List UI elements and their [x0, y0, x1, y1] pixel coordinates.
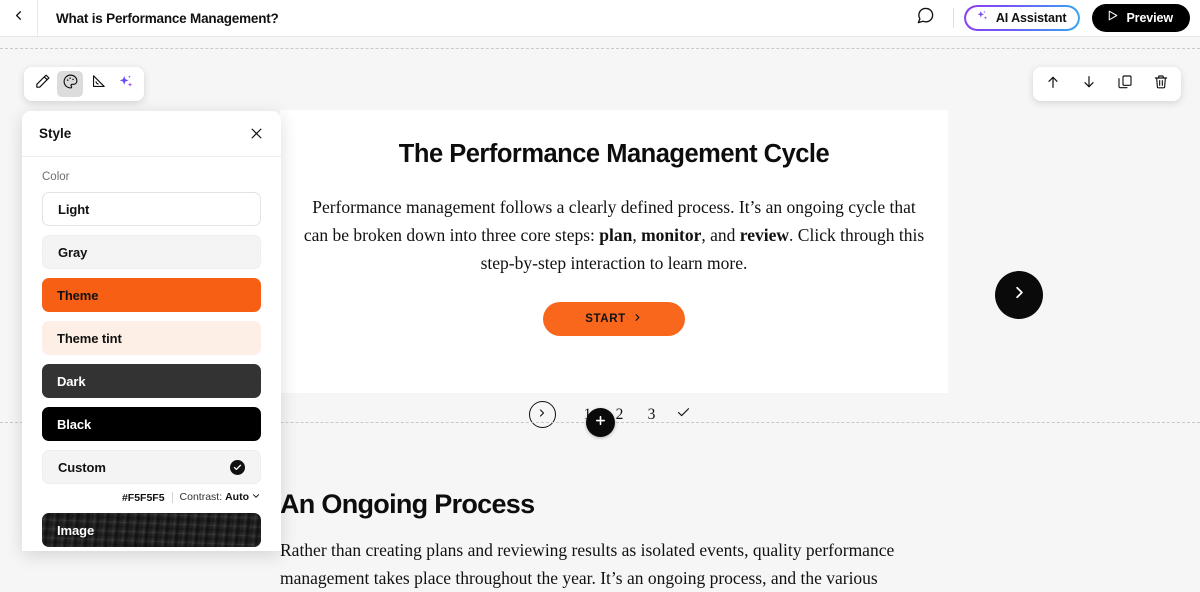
custom-color-hex: #F5F5F5 — [122, 492, 165, 504]
start-button-label: START — [585, 313, 625, 325]
duplicate-icon — [1117, 74, 1133, 95]
color-option-label: Theme — [57, 288, 98, 303]
custom-color-meta: #F5F5F5 Contrast: Auto — [42, 491, 261, 504]
color-option-dark[interactable]: Dark — [42, 364, 261, 398]
contrast-control[interactable]: Contrast: Auto — [180, 491, 261, 504]
ai-assistant-button[interactable]: AI Assistant — [964, 5, 1081, 31]
ruler-icon — [90, 73, 107, 95]
contrast-value: Auto — [225, 491, 249, 503]
lower-heading: An Ongoing Process — [280, 489, 940, 520]
selected-check-icon — [230, 460, 245, 475]
top-bar-actions: AI Assistant Preview — [909, 1, 1200, 35]
toolbar-separator — [953, 8, 954, 28]
tool-style-button[interactable] — [57, 71, 83, 97]
plus-icon — [594, 414, 607, 432]
pager-prev-button[interactable] — [529, 401, 556, 428]
sparkles-icon — [975, 9, 989, 28]
close-button[interactable] — [249, 126, 264, 141]
palette-icon — [62, 73, 79, 95]
color-option-label: Theme tint — [57, 331, 122, 346]
block-tools-toolbar — [24, 67, 144, 101]
card-body-part2: , — [632, 225, 641, 245]
start-button[interactable]: START — [543, 302, 685, 336]
preview-button[interactable]: Preview — [1092, 4, 1190, 32]
ai-assistant-label: AI Assistant — [996, 11, 1067, 25]
color-option-black[interactable]: Black — [42, 407, 261, 441]
chevron-down-icon — [251, 491, 261, 504]
color-section-label: Color — [42, 171, 261, 183]
close-icon — [249, 128, 264, 145]
comments-button[interactable] — [909, 1, 943, 35]
back-button[interactable] — [0, 0, 38, 37]
block-actions-toolbar — [1033, 67, 1181, 101]
block-divider-top — [0, 48, 1200, 49]
contrast-label: Contrast: — [180, 491, 223, 503]
top-bar: What is Performance Management? AI Assis… — [0, 0, 1200, 37]
add-block-button[interactable] — [586, 408, 615, 437]
style-panel-title: Style — [39, 126, 71, 141]
color-option-label: Gray — [58, 245, 87, 260]
color-option-theme-tint[interactable]: Theme tint — [42, 321, 261, 355]
pager-step-3[interactable]: 3 — [636, 406, 668, 424]
chevron-right-icon — [536, 406, 548, 424]
color-option-label: Dark — [57, 374, 86, 389]
arrow-down-icon — [1081, 74, 1097, 95]
color-option-label: Custom — [58, 460, 106, 475]
color-option-custom[interactable]: Custom — [42, 450, 261, 484]
meta-separator — [172, 492, 173, 503]
chevron-left-icon — [11, 8, 26, 28]
card-body-bold3: review — [740, 225, 789, 245]
color-option-label: Black — [57, 417, 91, 432]
card-body-bold2: monitor — [641, 225, 701, 245]
tool-layout-button[interactable] — [85, 71, 111, 97]
color-option-label: Light — [58, 202, 89, 217]
lower-body: Rather than creating plans and reviewing… — [280, 536, 940, 592]
lower-section: An Ongoing Process Rather than creating … — [280, 489, 940, 592]
card-body: Performance management follows a clearly… — [302, 193, 927, 277]
color-option-image[interactable]: Image — [42, 513, 261, 547]
color-option-gray[interactable]: Gray — [42, 235, 261, 269]
pencil-icon — [34, 73, 51, 95]
card-body-bold1: plan — [599, 225, 632, 245]
preview-label: Preview — [1126, 11, 1173, 25]
sparkles-icon — [117, 73, 135, 96]
play-icon — [1106, 9, 1119, 27]
chevron-right-icon — [1010, 283, 1029, 307]
arrow-up-icon — [1045, 74, 1061, 95]
comment-bubble-icon — [916, 6, 935, 30]
chevron-right-icon — [632, 312, 643, 326]
delete-button[interactable] — [1148, 71, 1174, 97]
tool-edit-button[interactable] — [29, 71, 55, 97]
card-body-part3: , and — [701, 225, 739, 245]
color-option-label: Image — [57, 523, 94, 538]
next-slide-button[interactable] — [995, 271, 1043, 319]
content-card: The Performance Management Cycle Perform… — [280, 110, 948, 393]
card-heading: The Performance Management Cycle — [280, 140, 948, 169]
move-up-button[interactable] — [1040, 71, 1066, 97]
color-option-light[interactable]: Light — [42, 192, 261, 226]
tool-ai-button[interactable] — [113, 71, 139, 97]
move-down-button[interactable] — [1076, 71, 1102, 97]
style-panel: Style Color Light Gray Theme Theme tint … — [22, 111, 281, 551]
style-panel-header: Style — [22, 111, 281, 157]
style-panel-body: Color Light Gray Theme Theme tint Dark B… — [22, 157, 281, 551]
color-option-theme[interactable]: Theme — [42, 278, 261, 312]
duplicate-button[interactable] — [1112, 71, 1138, 97]
page-title: What is Performance Management? — [56, 11, 279, 26]
trash-icon — [1153, 74, 1169, 95]
